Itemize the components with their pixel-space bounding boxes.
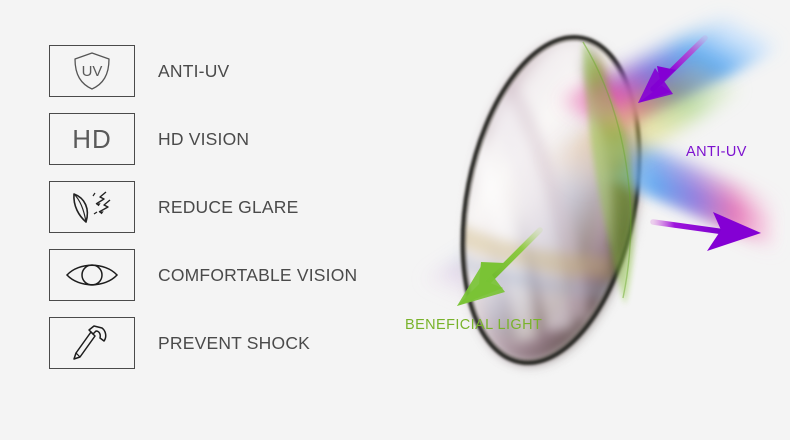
feature-label-anti-uv: ANTI-UV <box>158 61 229 82</box>
lens-beams-svg <box>395 0 790 440</box>
feature-row-prevent-shock: PREVENT SHOCK <box>49 317 409 369</box>
eye-icon <box>49 249 135 301</box>
infographic-stage: UV ANTI-UV HD HD VISION <box>0 0 790 440</box>
coated-lens-illustration: ANTI-UV BENEFICIAL LIGHT <box>395 0 790 440</box>
feature-row-reduce-glare: REDUCE GLARE <box>49 181 409 233</box>
hd-icon-label: HD <box>72 124 112 154</box>
uv-shield-label: UV <box>82 63 103 80</box>
feature-label-comfortable-vision: COMFORTABLE VISION <box>158 265 357 286</box>
feature-row-hd-vision: HD HD VISION <box>49 113 409 165</box>
feature-label-hd-vision: HD VISION <box>158 129 249 150</box>
hammer-icon <box>49 317 135 369</box>
feature-row-comfortable-vision: COMFORTABLE VISION <box>49 249 409 301</box>
feature-label-reduce-glare: REDUCE GLARE <box>158 197 299 218</box>
feature-list: UV ANTI-UV HD HD VISION <box>49 45 409 385</box>
glare-deflect-icon <box>49 181 135 233</box>
feature-row-anti-uv: UV ANTI-UV <box>49 45 409 97</box>
anti-uv-beam-label: ANTI-UV <box>686 144 747 160</box>
hd-text-icon: HD <box>49 113 135 165</box>
feature-label-prevent-shock: PREVENT SHOCK <box>158 333 310 354</box>
uv-shield-icon: UV <box>49 45 135 97</box>
beneficial-light-beam-label: BENEFICIAL LIGHT <box>405 317 542 333</box>
